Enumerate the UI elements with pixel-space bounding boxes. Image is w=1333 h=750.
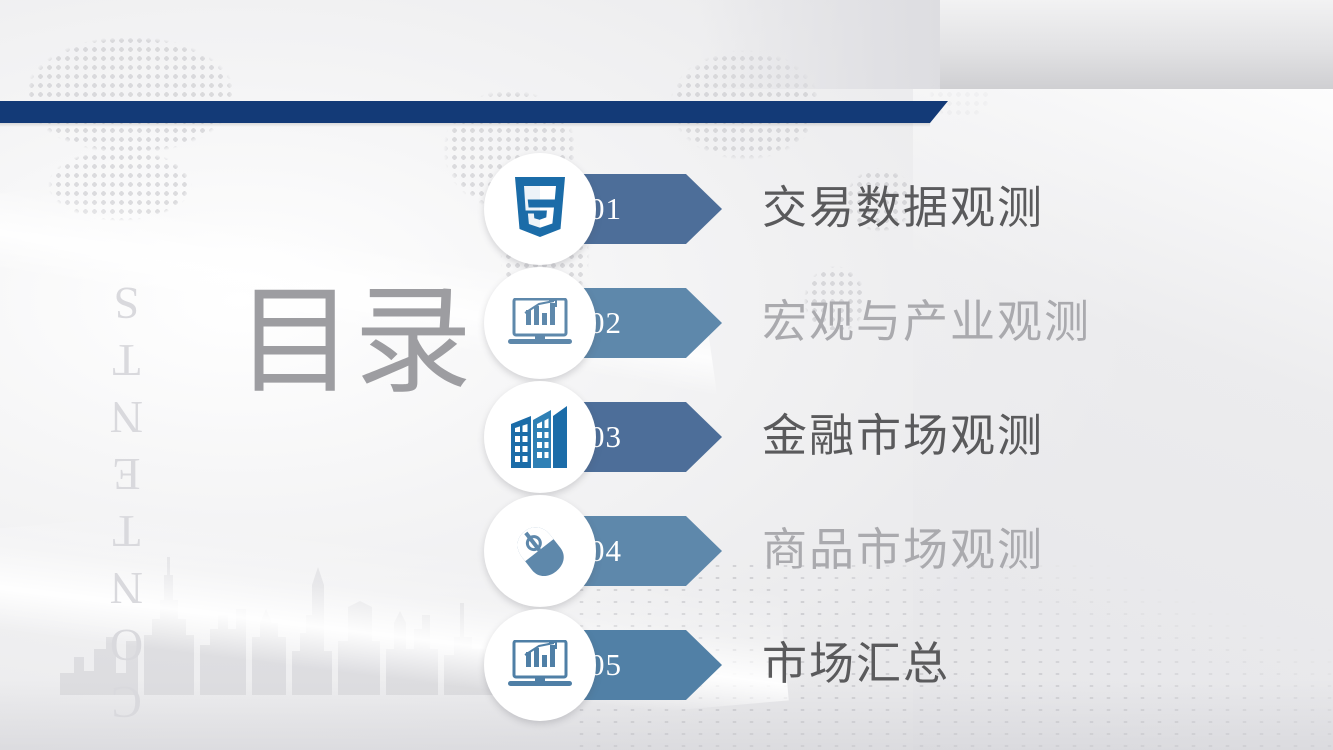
- list-item[interactable]: 04 商品市场观测: [484, 495, 1314, 607]
- item-icon-badge[interactable]: [484, 381, 596, 493]
- item-icon-badge[interactable]: [484, 267, 596, 379]
- html5-shield-icon: [511, 177, 569, 241]
- list-item[interactable]: 02 宏观与产业观测: [484, 267, 1314, 379]
- item-title: 宏观与产业观测: [762, 287, 1091, 357]
- item-icon-badge[interactable]: [484, 153, 596, 265]
- item-title: 金融市场观测: [762, 401, 1044, 471]
- computer-mouse-icon: [509, 520, 571, 582]
- slide-canvas: CONTENTS 目录 01 交易数据观测 02: [0, 0, 1333, 750]
- item-title: 商品市场观测: [762, 515, 1044, 585]
- item-icon-badge[interactable]: [484, 495, 596, 607]
- list-item[interactable]: 01 交易数据观测: [484, 153, 1314, 265]
- contents-list: 01 交易数据观测 02: [0, 0, 1333, 750]
- list-item[interactable]: 05 市场汇总: [484, 609, 1314, 721]
- item-icon-badge[interactable]: [484, 609, 596, 721]
- laptop-chart-icon: [508, 298, 572, 348]
- list-item[interactable]: 03 金融市场观测: [484, 381, 1314, 493]
- item-title: 交易数据观测: [762, 173, 1044, 243]
- item-title: 市场汇总: [762, 629, 950, 699]
- buildings-icon: [509, 406, 571, 468]
- laptop-chart-icon: [508, 640, 572, 690]
